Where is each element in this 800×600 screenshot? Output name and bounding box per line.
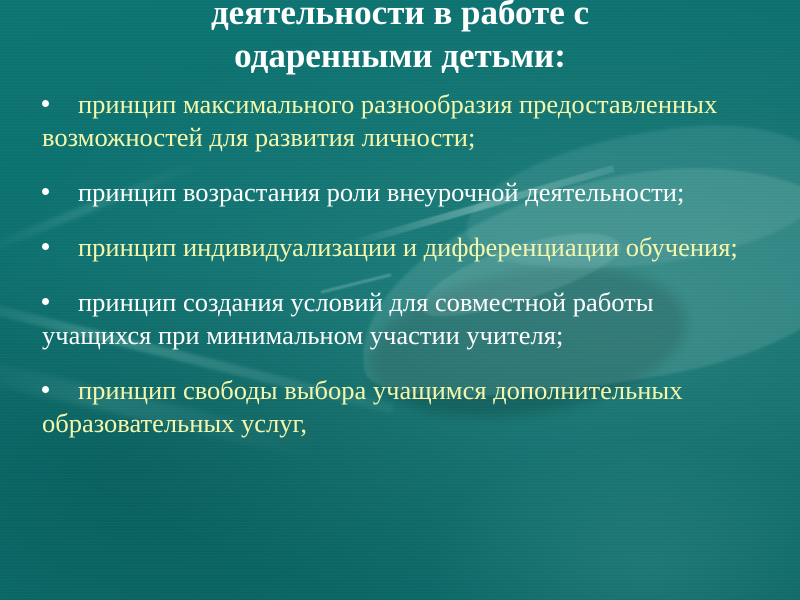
- list-item-text: принцип максимального разнообразия предо…: [42, 89, 717, 152]
- list-item: принцип свободы выбора учащимся дополнит…: [0, 374, 800, 440]
- slide-title-line-2: одаренными детьми:: [28, 34, 772, 77]
- presentation-slide: деятельности в работе с одаренными детьм…: [0, 0, 800, 600]
- list-item-text: принцип индивидуализации и дифференциаци…: [78, 232, 738, 262]
- slide-content: деятельности в работе с одаренными детьм…: [0, 0, 800, 600]
- list-item: принцип индивидуализации и дифференциаци…: [0, 231, 800, 264]
- bullet-dot-icon: [42, 243, 49, 250]
- bullet-dot-icon: [42, 386, 49, 393]
- list-item-text: принцип создания условий для совместной …: [42, 287, 654, 350]
- list-item-text: принцип свободы выбора учащимся дополнит…: [42, 375, 682, 438]
- bullet-dot-icon: [42, 298, 49, 305]
- slide-title: деятельности в работе с одаренными детьм…: [0, 0, 800, 77]
- list-item-text: принцип возрастания роли внеурочной деят…: [78, 177, 684, 207]
- list-item: принцип создания условий для совместной …: [0, 286, 800, 352]
- slide-title-line-1: деятельности в работе с: [28, 0, 772, 34]
- list-item: принцип возрастания роли внеурочной деят…: [0, 176, 800, 209]
- bullet-dot-icon: [42, 100, 49, 107]
- bullet-dot-icon: [42, 188, 49, 195]
- principles-bullet-list: принцип максимального разнообразия предо…: [0, 88, 800, 440]
- list-item: принцип максимального разнообразия предо…: [0, 88, 800, 154]
